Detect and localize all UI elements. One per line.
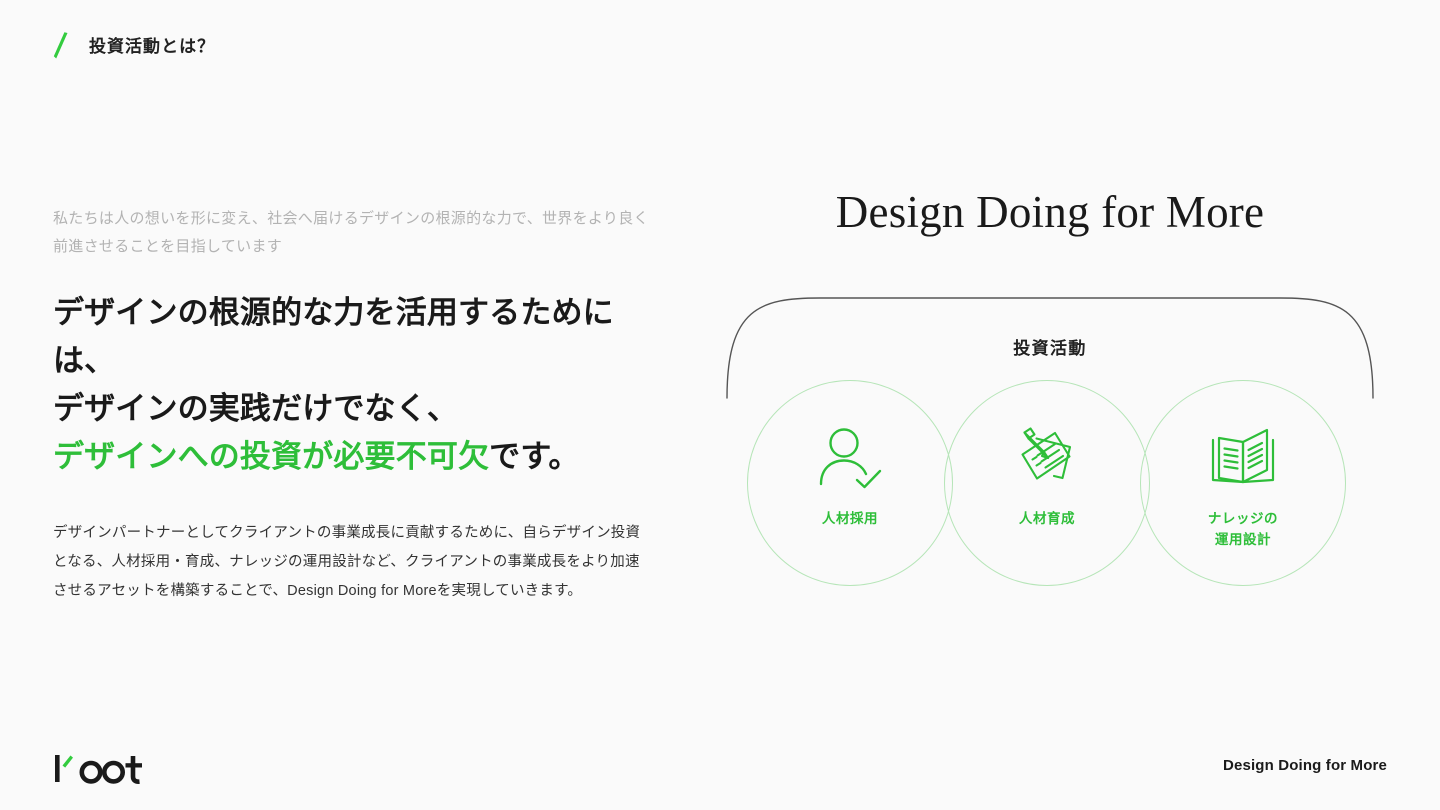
documents-pencil-icon: [1010, 421, 1084, 495]
diagram-node-knowledge[interactable]: ナレッジの運用設計: [1140, 380, 1346, 586]
diagram-node-label-line2: 運用設計: [1215, 532, 1271, 547]
page-title: 投資活動とは？: [89, 38, 215, 55]
diagram-node-label: 人材採用: [822, 509, 878, 530]
root-logo[interactable]: [53, 750, 149, 784]
person-check-icon: [813, 421, 887, 495]
diagram-node-label-line1: ナレッジの: [1208, 511, 1278, 526]
headline-highlight: デザインへの投資が必要不可欠: [53, 439, 489, 474]
diagram-node-row: 人材採用: [700, 380, 1400, 595]
footer-tagline: Design Doing for More: [1223, 757, 1387, 774]
headline-line-1: デザインの根源的な力を活用するためには、: [53, 289, 653, 385]
headline-line-3: デザインへの投資が必要不可欠です。: [53, 433, 653, 481]
bracket-label: 投資活動: [700, 334, 1400, 359]
diagram-node-label: ナレッジの運用設計: [1208, 509, 1278, 551]
diagram-title: Design Doing for More: [700, 190, 1400, 235]
diagram-node-development[interactable]: 人材育成: [944, 380, 1150, 586]
slide-header: 投資活動とは？: [53, 32, 215, 60]
slash-accent-icon: [53, 32, 71, 60]
diagram-panel: Design Doing for More 投資活動 人材採用: [700, 190, 1400, 610]
headline-block: デザインの根源的な力を活用するためには、 デザインの実践だけでなく、 デザインへ…: [53, 289, 653, 481]
diagram-node-label: 人材育成: [1019, 509, 1075, 530]
left-content-column: 私たちは人の想いを形に変え、社会へ届けるデザインの根源的な力で、世界をより良く前…: [53, 205, 653, 606]
root-wordmark-icon: [53, 748, 149, 784]
body-paragraph: デザインパートナーとしてクライアントの事業成長に貢献するために、自らデザイン投資…: [53, 519, 653, 606]
headline-highlight-tail: です。: [489, 439, 579, 474]
lead-paragraph: 私たちは人の想いを形に変え、社会へ届けるデザインの根源的な力で、世界をより良く前…: [53, 205, 653, 261]
open-book-icon: [1206, 421, 1280, 495]
diagram-node-recruiting[interactable]: 人材採用: [747, 380, 953, 586]
headline-line-2: デザインの実践だけでなく、: [53, 385, 653, 433]
